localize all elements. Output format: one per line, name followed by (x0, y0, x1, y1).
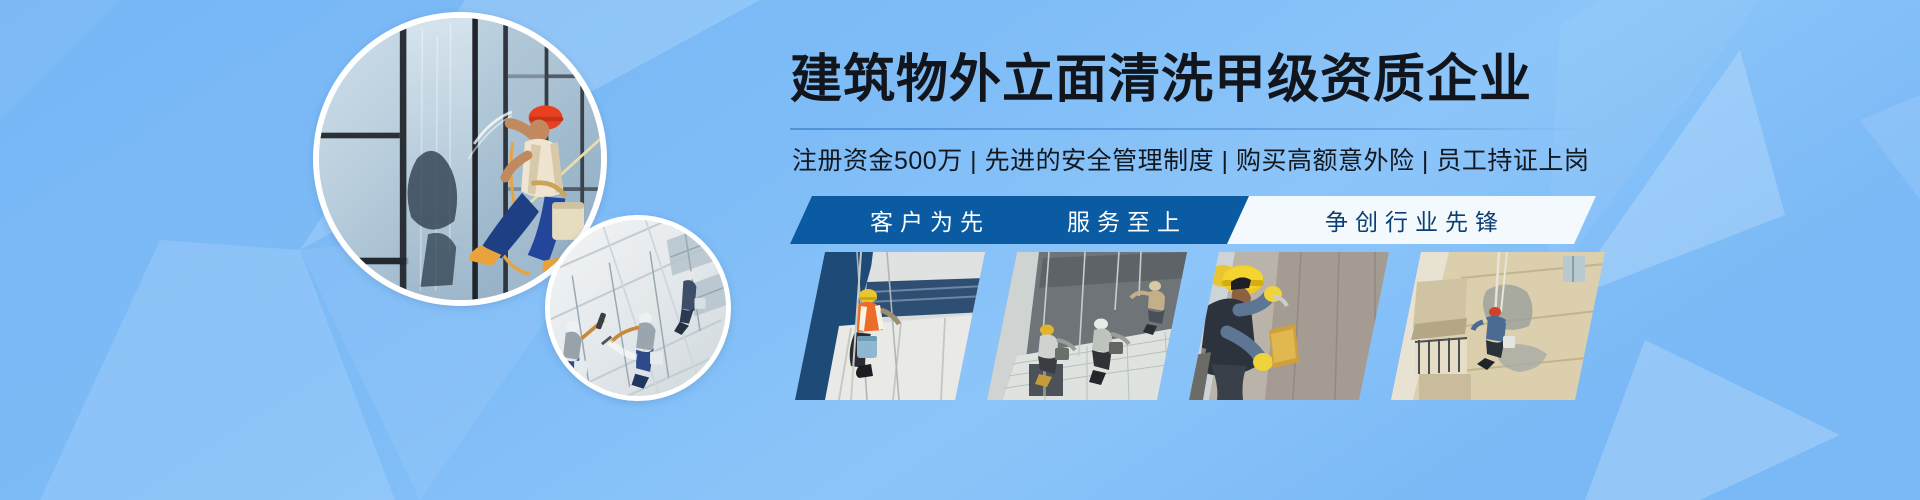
title-divider (790, 128, 1590, 130)
photo-circle-small (545, 215, 731, 401)
strip-photo-3 (1189, 252, 1389, 400)
photo-strip (795, 252, 1605, 400)
page-title: 建筑物外立面清洗甲级资质企业 (790, 52, 1600, 108)
slogan-ribbon-dark: 客户为先 服务至上 (790, 196, 1260, 244)
worker-painting-wall-photo (795, 252, 985, 400)
two-rope-workers-grey-wall-photo (987, 252, 1187, 400)
rope-access-team-photo (550, 220, 726, 396)
facade-repair-worker-photo (1391, 252, 1605, 400)
promo-banner: 建筑物外立面清洗甲级资质企业 注册资金500万 | 先进的安全管理制度 | 购买… (0, 0, 1920, 500)
slogan-industry-pioneer: 争创行业先锋 (1318, 203, 1505, 237)
subtitle-features: 注册资金500万 | 先进的安全管理制度 | 购买高额意外险 | 员工持证上岗 (792, 144, 1602, 178)
slogan-ribbon-light: 争创行业先锋 (1227, 196, 1596, 244)
plasterer-with-trowel-photo (1189, 252, 1389, 400)
slogan-customer-first: 客户为先 (863, 203, 990, 237)
slogan-service-supreme: 服务至上 (1060, 203, 1187, 237)
slogan-ribbon: 客户为先 服务至上 争创行业先锋 (790, 196, 1596, 244)
strip-photo-1 (795, 252, 985, 400)
strip-photo-4 (1391, 252, 1605, 400)
strip-photo-2 (987, 252, 1187, 400)
